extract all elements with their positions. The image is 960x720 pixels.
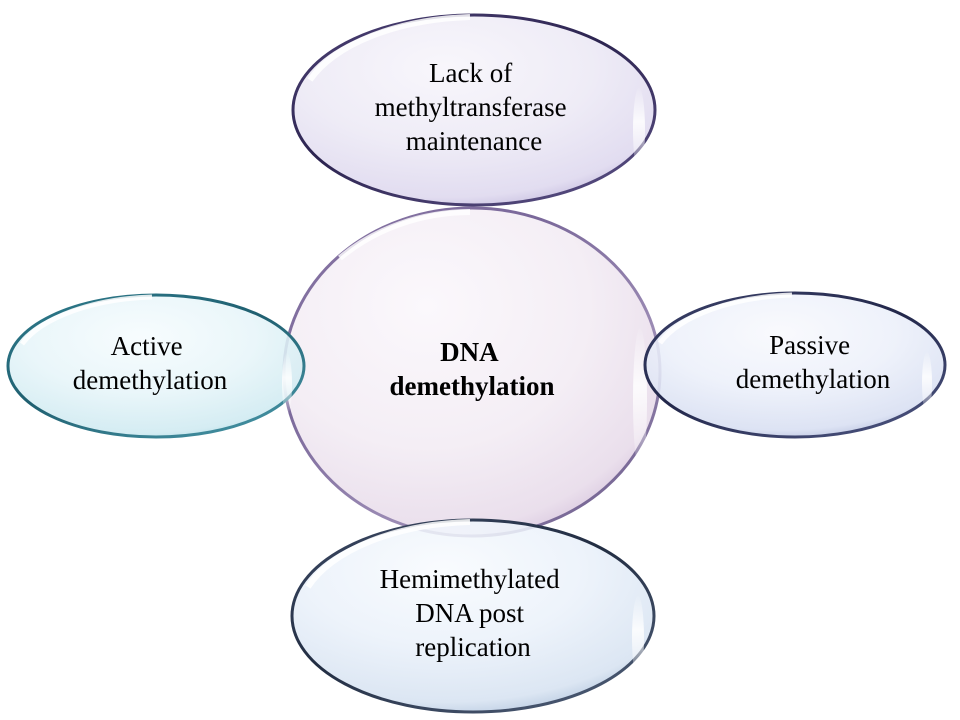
bottom-label-line-1: DNA post bbox=[415, 598, 524, 628]
bottom-label-line-2: replication bbox=[415, 632, 531, 662]
top-label-line-1: methyltransferase bbox=[375, 92, 567, 122]
bottom-specular-streak bbox=[632, 596, 644, 680]
center-label-line-0: DNA bbox=[440, 337, 499, 367]
node-passive-demethylation[interactable]: Passive demethylation bbox=[645, 293, 945, 437]
bottom-label-line-0: Hemimethylated bbox=[380, 564, 560, 594]
diagram-canvas: DNA demethylation Lack of methyltransfer… bbox=[0, 0, 960, 720]
top-label-line-0: Lack of bbox=[429, 58, 512, 88]
node-active-demethylation[interactable]: Active demethylation bbox=[8, 295, 304, 437]
node-lack-of-methyltransferase-maintenance[interactable]: Lack of methyltransferase maintenance bbox=[293, 15, 655, 205]
left-specular-streak bbox=[282, 353, 292, 415]
left-label-line-0: Active bbox=[111, 331, 183, 361]
right-label-line-1: demethylation bbox=[736, 364, 891, 394]
center-label-line-1: demethylation bbox=[390, 371, 555, 401]
diagram-root: DNA demethylation Lack of methyltransfer… bbox=[0, 0, 960, 720]
node-dna-demethylation[interactable]: DNA demethylation bbox=[284, 208, 660, 536]
node-hemimethylated-dna-post-replication[interactable]: Hemimethylated DNA post replication bbox=[292, 520, 654, 712]
right-specular-streak bbox=[922, 352, 932, 414]
top-specular-streak bbox=[633, 88, 645, 172]
left-label-line-1: demethylation bbox=[73, 365, 228, 395]
right-label-line-0: Passive bbox=[769, 330, 850, 360]
top-label-line-2: maintenance bbox=[406, 126, 542, 156]
center-specular-streak bbox=[633, 328, 647, 472]
